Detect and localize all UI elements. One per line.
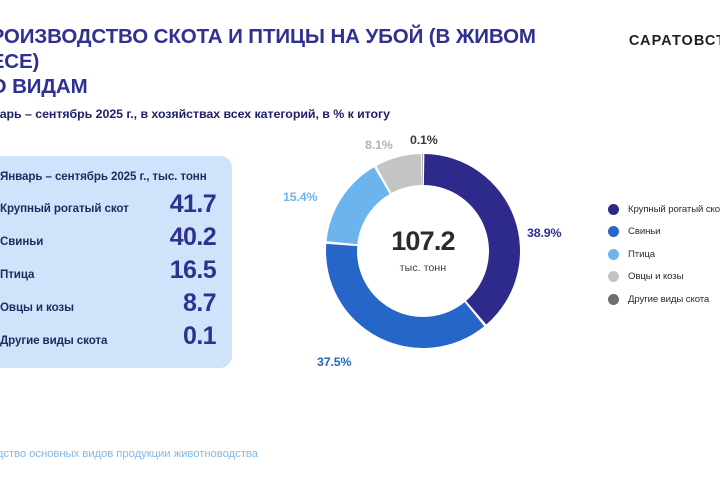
legend-item: Птица bbox=[608, 243, 720, 266]
legend-item: Крупный рогатый скот bbox=[608, 198, 720, 221]
panel-row: Овцы и козы 8.7 bbox=[0, 291, 216, 324]
legend-swatch-icon bbox=[608, 294, 619, 305]
page-subtitle: Январь – сентябрь 2025 г., в хозяйствах … bbox=[0, 106, 596, 122]
panel-row-value: 0.1 bbox=[183, 324, 216, 349]
donut-slice bbox=[422, 154, 423, 185]
panel-row-label: Другие виды скота bbox=[0, 334, 107, 347]
slice-percent-label: 0.1% bbox=[410, 133, 438, 147]
slice-percent-label: 8.1% bbox=[365, 138, 393, 152]
panel-row: Крупный рогатый скот 41.7 bbox=[0, 192, 216, 225]
page-title: ПРОИЗВОДСТВО СКОТА И ПТИЦЫ НА УБОЙ (В ЖИ… bbox=[0, 24, 596, 99]
donut-chart: 107.2 тыс. тонн bbox=[318, 146, 528, 356]
panel-row-value: 8.7 bbox=[183, 291, 216, 316]
panel-row-label: Птица bbox=[0, 268, 34, 281]
legend-item: Другие виды скота bbox=[608, 288, 720, 311]
slice-percent-label: 38.9% bbox=[527, 226, 561, 240]
chart-legend: Крупный рогатый скот Свиньи Птица Овцы и… bbox=[608, 198, 720, 311]
legend-swatch-icon bbox=[608, 249, 619, 260]
panel-rows: Крупный рогатый скот 41.7 Свиньи 40.2 Пт… bbox=[0, 192, 216, 357]
data-panel: Январь – сентябрь 2025 г., тыс. тонн Кру… bbox=[0, 156, 232, 368]
donut-slice bbox=[326, 244, 484, 348]
panel-row-label: Свиньи bbox=[0, 235, 43, 248]
panel-row: Другие виды скота 0.1 bbox=[0, 324, 216, 357]
slice-percent-label: 37.5% bbox=[317, 355, 351, 369]
header: ПРОИЗВОДСТВО СКОТА И ПТИЦЫ НА УБОЙ (В ЖИ… bbox=[0, 24, 596, 122]
legend-item: Овцы и козы bbox=[608, 266, 720, 289]
legend-item: Свиньи bbox=[608, 221, 720, 244]
legend-item-label: Свиньи bbox=[628, 226, 660, 237]
panel-row: Свиньи 40.2 bbox=[0, 225, 216, 258]
brand-logo: САРАТОВСТАТ bbox=[629, 33, 720, 49]
legend-swatch-icon bbox=[608, 271, 619, 282]
panel-row: Птица 16.5 bbox=[0, 258, 216, 291]
legend-item-label: Другие виды скота bbox=[628, 294, 709, 305]
slice-percent-label: 15.4% bbox=[283, 190, 317, 204]
infographic-slide: ПРОИЗВОДСТВО СКОТА И ПТИЦЫ НА УБОЙ (В ЖИ… bbox=[0, 0, 720, 480]
legend-item-label: Крупный рогатый скот bbox=[628, 204, 720, 215]
panel-row-value: 16.5 bbox=[170, 258, 216, 283]
panel-caption: Январь – сентябрь 2025 г., тыс. тонн bbox=[0, 170, 216, 183]
panel-row-value: 41.7 bbox=[170, 192, 216, 217]
legend-item-label: Овцы и козы bbox=[628, 271, 683, 282]
donut-slice bbox=[424, 154, 520, 324]
panel-row-label: Овцы и козы bbox=[0, 301, 74, 314]
legend-swatch-icon bbox=[608, 204, 619, 215]
donut-chart-svg bbox=[318, 146, 528, 356]
footer-caption: Производство основных видов продукции жи… bbox=[0, 448, 258, 460]
panel-row-label: Крупный рогатый скот bbox=[0, 202, 129, 215]
legend-item-label: Птица bbox=[628, 249, 655, 260]
donut-slice bbox=[327, 167, 390, 244]
panel-row-value: 40.2 bbox=[170, 225, 216, 250]
legend-swatch-icon bbox=[608, 226, 619, 237]
